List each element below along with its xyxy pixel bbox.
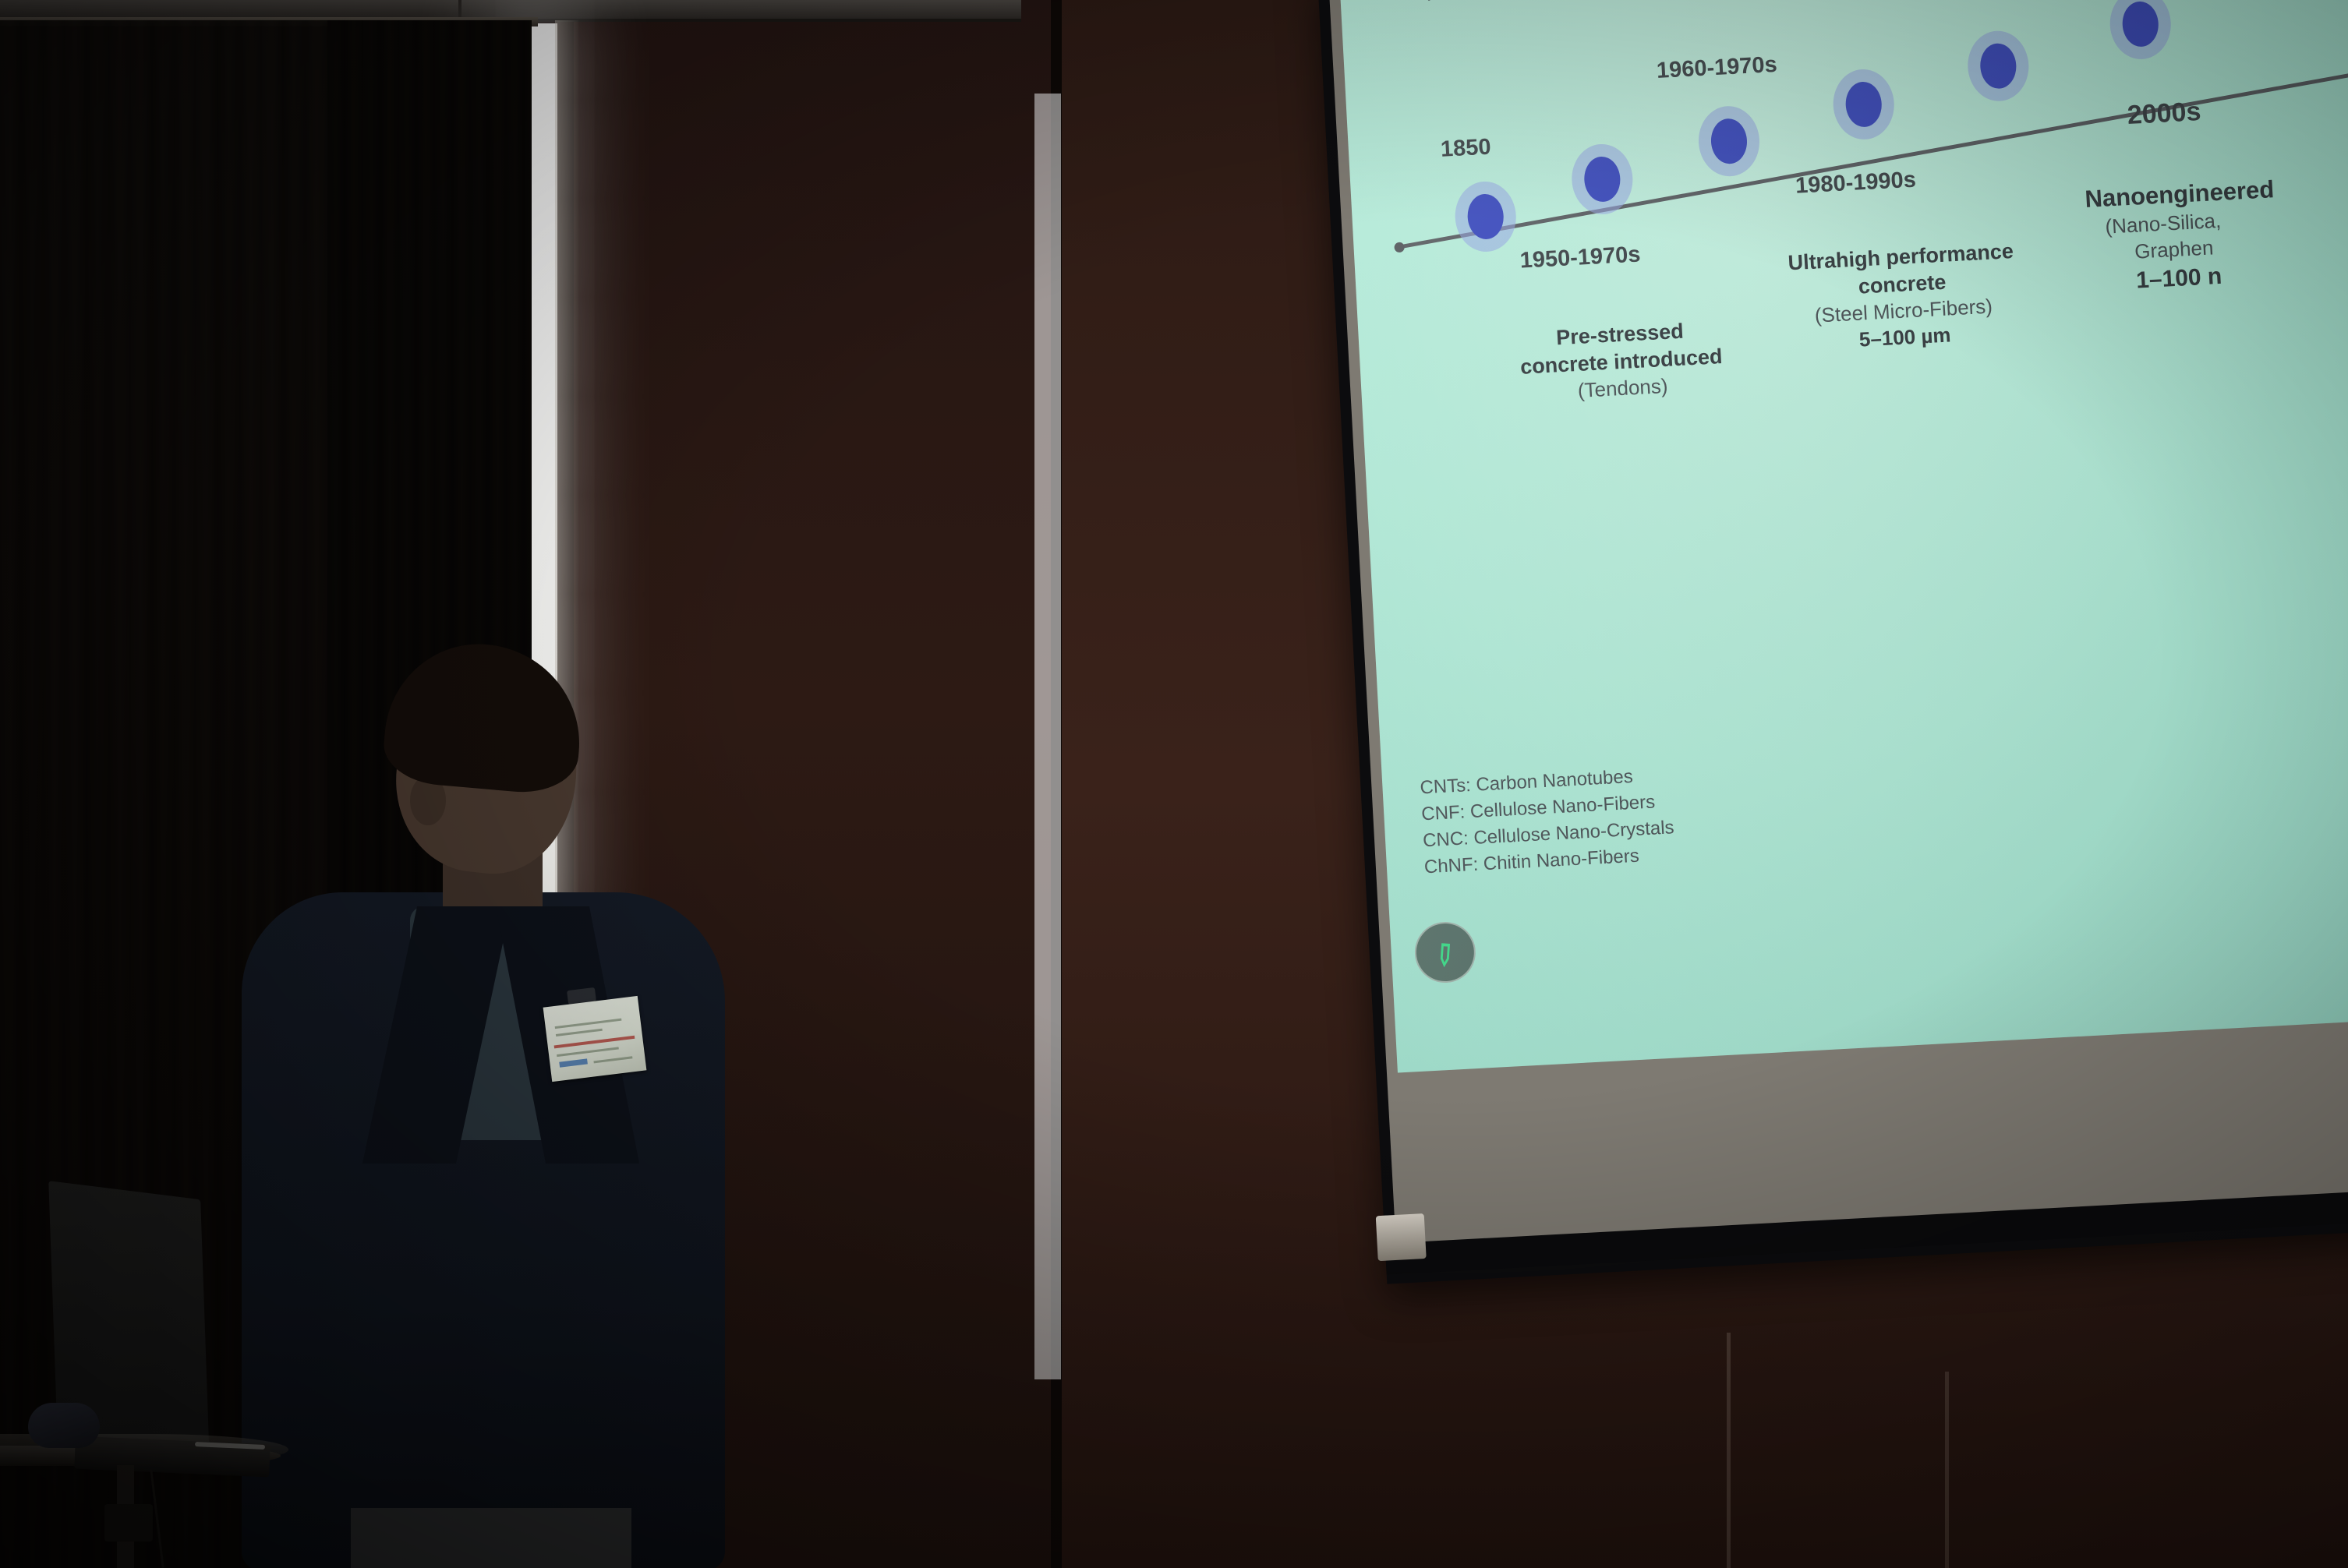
timeline-dot-1950-1970s bbox=[1583, 156, 1621, 203]
table-bracket bbox=[104, 1504, 153, 1542]
timeline-year-1850: 1850 bbox=[1440, 134, 1491, 162]
abbreviation-legend: CNTs: Carbon Nanotubes CNF: Cellulose Na… bbox=[1420, 761, 1677, 881]
timeline-year-1980-1990s: 1980-1990s bbox=[1795, 168, 1916, 200]
timeline-year-1950-1970s: 1950-1970s bbox=[1519, 242, 1641, 274]
timeline-year-1960-1970s: 1960-1970s bbox=[1656, 52, 1777, 84]
timeline-dot-1980-1990s bbox=[1844, 81, 1883, 128]
timeline-detail: (Steel Bars) bbox=[1363, 0, 1589, 7]
timeline-block-2000s: Nanoengineered (Nano-Silica, Graphen 1–1… bbox=[2085, 167, 2348, 298]
wall-seam bbox=[1945, 1372, 1949, 1568]
sheer-curtain bbox=[555, 20, 578, 1568]
screen-surface: Evolu 1850 Steel-reinforced concrete (St… bbox=[1328, 0, 2348, 1245]
window-curtain-inner bbox=[327, 20, 532, 1568]
computer-mouse bbox=[28, 1403, 100, 1448]
timeline-dot-1960-1970s bbox=[1710, 118, 1748, 164]
pen-icon[interactable] bbox=[1413, 920, 1477, 984]
timeline-dot-1990s bbox=[1979, 43, 2017, 90]
wall-panel-left bbox=[574, 0, 1057, 1568]
wall-seam bbox=[1727, 1333, 1731, 1568]
pull-down-projection-screen: Evolu 1850 Steel-reinforced concrete (St… bbox=[1317, 0, 2348, 1284]
timeline-year-1990s: 1990s bbox=[1934, 0, 1998, 2]
screen-roller-end bbox=[1376, 1213, 1427, 1261]
timeline-start-dot bbox=[1394, 242, 1405, 253]
timeline-year-2000s: 2000s bbox=[2127, 97, 2201, 131]
projected-slide: Evolu 1850 Steel-reinforced concrete (St… bbox=[1331, 0, 2348, 1073]
timeline-block-1950-1970s: Pre-stressed concrete introduced (Tendon… bbox=[1490, 314, 1752, 408]
screenshot-stage: Evolu 1850 Steel-reinforced concrete (St… bbox=[0, 0, 2348, 1568]
timeline-block-1850: Steel-reinforced concrete (Steel Bars) bbox=[1360, 0, 1590, 7]
timeline-dot-2000s bbox=[2121, 1, 2159, 48]
timeline-block-1980-1990s: Ultrahigh performance concrete (Steel Mi… bbox=[1752, 236, 2054, 359]
window-pane bbox=[1034, 94, 1061, 1379]
